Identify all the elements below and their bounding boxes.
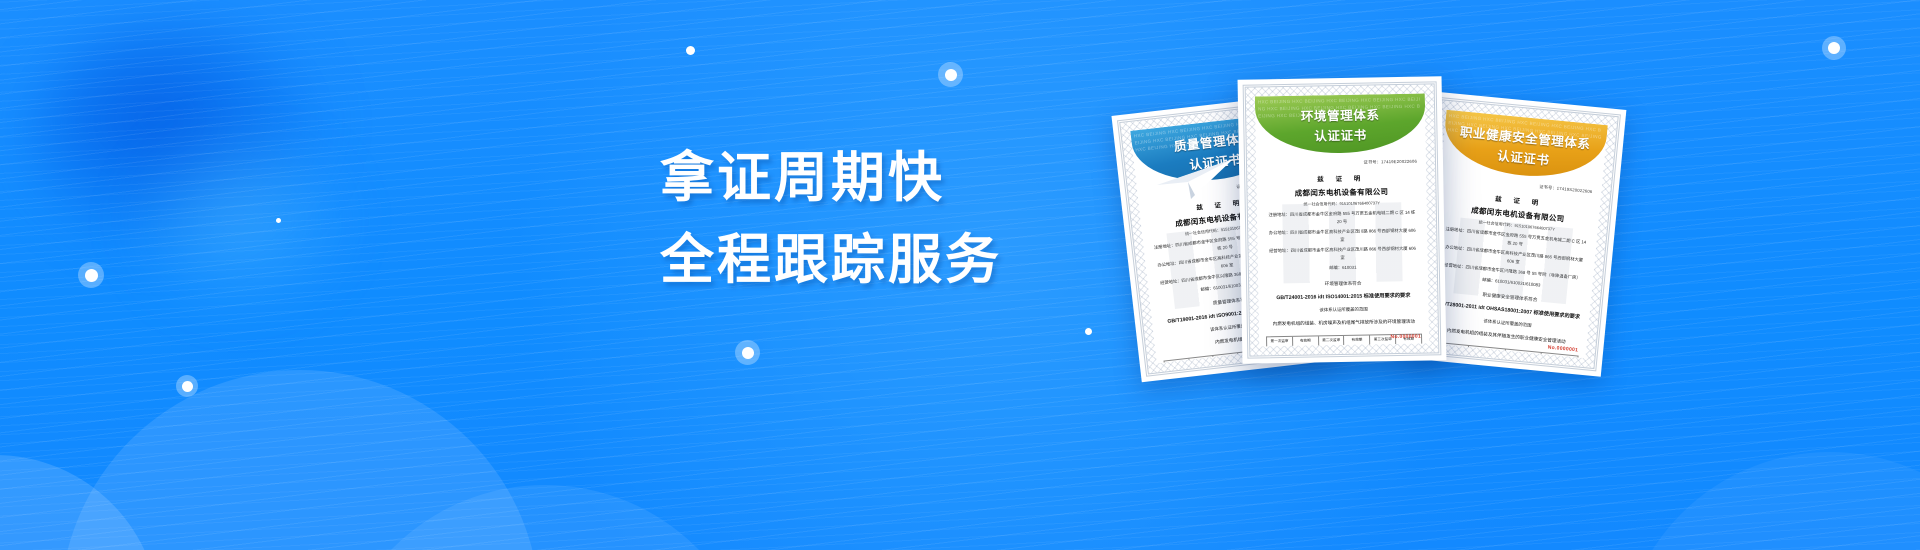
certificate-address-3: 经营地址：四川省成都市金牛区高科技产业区茂川路 866 号西部钢材大厦 606 … (1266, 245, 1418, 263)
certificate-credit-code: 统一社会信用代码：91510106766400737Y (1266, 200, 1418, 209)
certificate-company: 成都闰东电机设备有限公司 (1265, 186, 1417, 200)
certificate-header: HXC BEIJING HXC BEIJING HXC BEIJING HXC … (1255, 94, 1426, 155)
certificate-environment[interactable]: HXC BEIJING HXC BEIJING HXC BEIJING HXC … (1238, 76, 1447, 364)
certificate-postcode: 邮编：610031 (1267, 263, 1419, 273)
certificate-border: HXC BEIJING HXC BEIJING HXC BEIJING HXC … (1243, 81, 1442, 358)
certificate-face: HXC BEIJING HXC BEIJING HXC BEIJING HXC … (1255, 94, 1429, 347)
certificate-title-line-1: 环境管理体系 (1301, 104, 1380, 124)
certificate-serial: 证书号：17419E20022606 (1265, 159, 1417, 168)
certificate-number: No.0000001 (1390, 334, 1421, 341)
certificate-group: HXC BEIJING HXC BEIJING HXC BEIJING HXC … (1118, 78, 1738, 398)
certificate-address-1: 注册地址：四川省成都市金牛区金府路 555 号万贯五金机电城二期 C 区 14 … (1266, 209, 1418, 227)
certificate-heading: 兹 证 明 (1265, 172, 1417, 185)
certificate-standard: GB/T24001-2016 idt ISO14001:2015 标准使用要求的… (1267, 291, 1419, 301)
table-cell: 有效期 (1345, 335, 1371, 345)
sparkle-dot (735, 340, 760, 365)
sparkle-dot (686, 46, 695, 55)
sparkle-dot (78, 262, 104, 288)
headline-block: 拿证周期快 全程跟踪服务 (660, 137, 1080, 301)
headline-line-1: 拿证周期快 (660, 137, 1080, 219)
certificate-body: 证书号：17419S20022606 兹 证 明 成都闰东电机设备有限公司 统一… (1425, 168, 1602, 348)
certification-hero-banner: 拿证周期快 全程跟踪服务 HXC BEIJING HXC BEIJING HXC… (0, 0, 1920, 550)
certificate-scope: 内燃发电机组的组装、机房噪声及机组尾气排放所涉及的环境管理活动 (1268, 318, 1420, 327)
sparkle-dot (1085, 328, 1092, 335)
sparkle-dot (1822, 36, 1846, 60)
table-cell: 第一次监审 (1267, 336, 1293, 346)
sparkle-dot (176, 375, 198, 397)
certificate-face: HXC BEIJING HXC BEIJING HXC BEIJING HXC … (1424, 110, 1608, 358)
table-cell: 第二次监审 (1319, 336, 1345, 346)
certificate-address-2: 办公地址：四川省成都市金牛区高科技产业区茂川路 866 号西部钢材大厦 606 … (1266, 227, 1418, 245)
table-cell: 有效期 (1293, 336, 1319, 346)
certificate-system-label: 环境管理体系符合 (1267, 279, 1419, 288)
certificate-scope-label: 该体系认证所覆盖的范围 (1268, 305, 1420, 314)
paper-plane-icon (1155, 155, 1235, 201)
sparkle-dot (276, 218, 281, 223)
headline-line-2: 全程跟踪服务 (660, 219, 1080, 301)
certificate-title-line-2: 认证证书 (1314, 124, 1367, 144)
certificate-body: 证书号：17419E20022606 兹 证 明 成都闰东电机设备有限公司 统一… (1256, 152, 1429, 328)
sparkle-dot (938, 62, 963, 87)
